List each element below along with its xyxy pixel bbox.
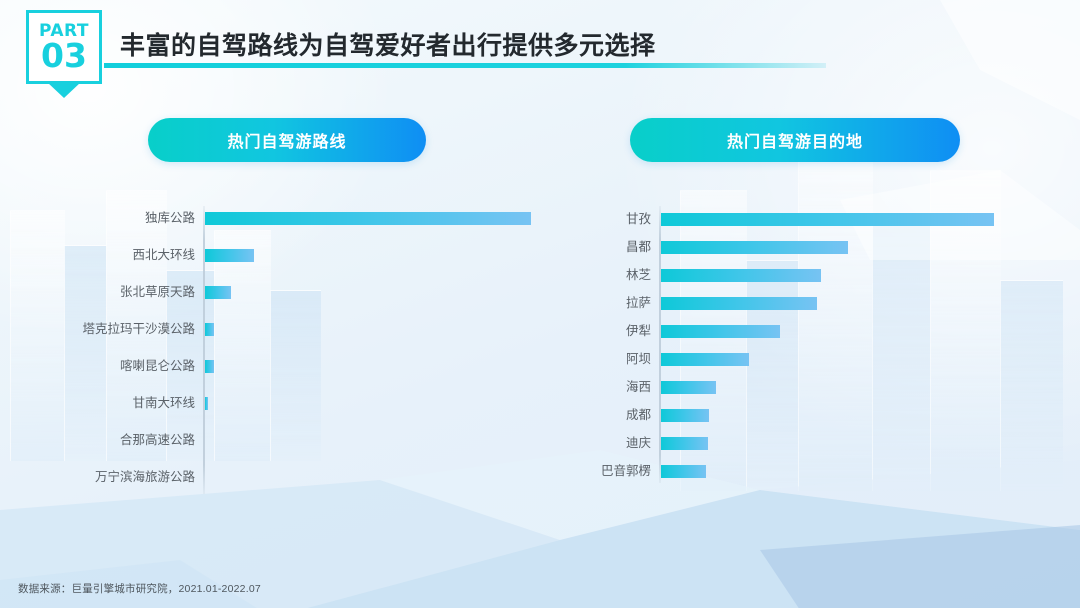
chart-category-label: 合那高速公路	[40, 431, 195, 449]
title-divider	[104, 63, 826, 68]
section-pill-routes-label: 热门自驾游路线	[227, 128, 346, 152]
chart-row: 合那高速公路	[40, 431, 540, 449]
chart-row: 喀喇昆仑公路	[40, 357, 540, 375]
chart-bar	[661, 437, 708, 450]
chart-row: 成都	[540, 406, 1040, 424]
chart-category-label: 西北大环线	[40, 246, 195, 264]
part-badge-number: 03	[41, 39, 87, 72]
chart-category-label: 拉萨	[540, 294, 651, 312]
chart-category-label: 伊犁	[540, 322, 651, 340]
chart-row: 林芝	[540, 266, 1040, 284]
section-pill-destinations: 热门自驾游目的地	[630, 118, 960, 162]
chart-bar	[661, 381, 716, 394]
chart-row: 张北草原天路	[40, 283, 540, 301]
chart-row: 巴音郭楞	[540, 462, 1040, 480]
chart-popular-routes: 独库公路西北大环线张北草原天路塔克拉玛干沙漠公路喀喇昆仑公路甘南大环线合那高速公…	[40, 200, 540, 500]
chart-row: 阿坝	[540, 350, 1040, 368]
chart-category-label: 甘南大环线	[40, 394, 195, 412]
chart-bar	[205, 397, 208, 410]
chart-row: 甘孜	[540, 210, 1040, 228]
chart-category-label: 万宁滨海旅游公路	[40, 468, 195, 486]
chart-row: 拉萨	[540, 294, 1040, 312]
chart-bar	[661, 353, 749, 366]
section-pill-routes: 热门自驾游路线	[148, 118, 426, 162]
chart-category-label: 阿坝	[540, 350, 651, 368]
chart-bar	[205, 323, 214, 336]
chart-row: 西北大环线	[40, 246, 540, 264]
chart-row: 甘南大环线	[40, 394, 540, 412]
chart-category-label: 甘孜	[540, 210, 651, 228]
chart-popular-destinations: 甘孜昌都林芝拉萨伊犁阿坝海西成都迪庆巴音郭楞	[540, 200, 1040, 500]
chart-bar	[661, 213, 994, 226]
part-badge-pointer-icon	[47, 82, 81, 98]
chart-category-label: 林芝	[540, 266, 651, 284]
chart-row: 塔克拉玛干沙漠公路	[40, 320, 540, 338]
slide-root: PART 03 丰富的自驾路线为自驾爱好者出行提供多元选择 热门自驾游路线 热门…	[0, 0, 1080, 608]
chart-category-label: 巴音郭楞	[540, 462, 651, 480]
chart-bar	[205, 212, 531, 225]
chart-row: 海西	[540, 378, 1040, 396]
chart-row: 伊犁	[540, 322, 1040, 340]
chart-category-label: 海西	[540, 378, 651, 396]
page-title: 丰富的自驾路线为自驾爱好者出行提供多元选择	[120, 26, 656, 62]
chart-bar	[661, 269, 821, 282]
chart-category-label: 张北草原天路	[40, 283, 195, 301]
chart-category-label: 成都	[540, 406, 651, 424]
chart-row: 万宁滨海旅游公路	[40, 468, 540, 486]
chart-row: 昌都	[540, 238, 1040, 256]
chart-category-label: 塔克拉玛干沙漠公路	[40, 320, 195, 338]
chart-bar	[205, 286, 231, 299]
chart-category-label: 昌都	[540, 238, 651, 256]
data-source-note: 数据来源：巨量引擎城市研究院，2021.01-2022.07	[18, 581, 261, 596]
chart-category-label: 独库公路	[40, 209, 195, 227]
section-pill-destinations-label: 热门自驾游目的地	[727, 128, 863, 152]
chart-bar	[661, 297, 817, 310]
chart-bar	[661, 241, 848, 254]
chart-bar	[661, 465, 706, 478]
chart-bar	[661, 325, 780, 338]
chart-bar	[661, 409, 709, 422]
chart-row: 迪庆	[540, 434, 1040, 452]
chart-bar	[205, 249, 254, 262]
chart-category-label: 喀喇昆仑公路	[40, 357, 195, 375]
chart-row: 独库公路	[40, 209, 540, 227]
chart-category-label: 迪庆	[540, 434, 651, 452]
part-badge: PART 03	[26, 10, 102, 84]
chart-bar	[205, 360, 214, 373]
